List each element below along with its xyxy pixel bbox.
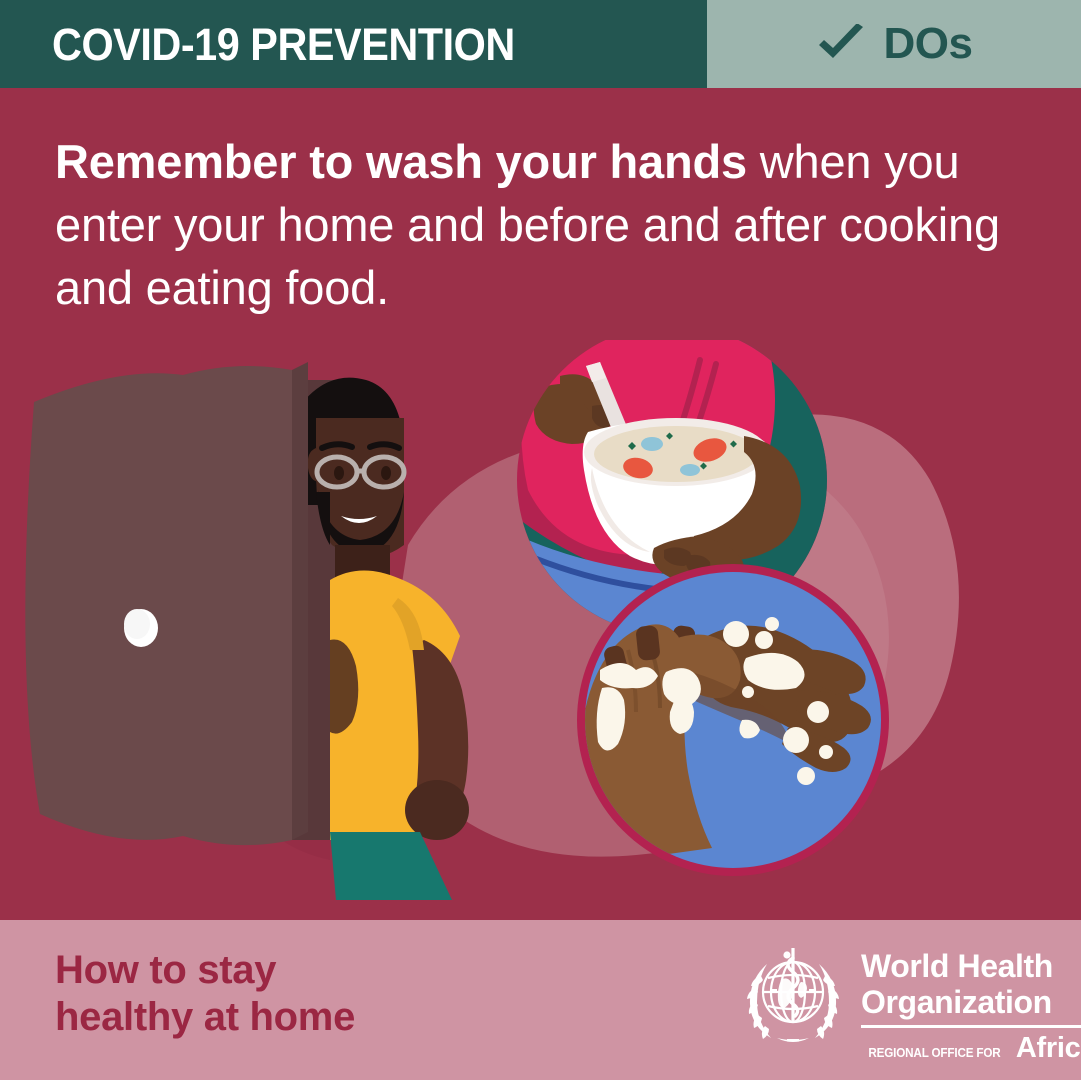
who-region-prefix: REGIONAL OFFICE FOR bbox=[868, 1045, 1000, 1060]
page-title: COVID-19 PREVENTION bbox=[52, 22, 515, 67]
illustration-artwork bbox=[0, 340, 1081, 920]
who-wordmark: World Health Organization REGIONAL OFFIC… bbox=[861, 942, 1081, 1065]
footer-bar: How to stay healthy at home bbox=[0, 920, 1081, 1080]
dos-badge-label: DOs bbox=[884, 22, 973, 66]
poster-canvas: COVID-19 PREVENTION DOs Remember to wash… bbox=[0, 0, 1081, 1080]
who-name-line1: World Health bbox=[861, 948, 1081, 984]
who-region-row: REGIONAL OFFICE FOR Africa bbox=[861, 1032, 1081, 1065]
headline-text: Remember to wash your hands when you ent… bbox=[55, 130, 1035, 319]
who-name-line2: Organization bbox=[861, 984, 1081, 1020]
who-logo: World Health Organization REGIONAL OFFIC… bbox=[737, 942, 1081, 1065]
who-divider bbox=[861, 1025, 1081, 1028]
who-region-name: Africa bbox=[1016, 1032, 1081, 1065]
check-icon bbox=[816, 24, 866, 64]
header-title-band: COVID-19 PREVENTION bbox=[0, 0, 707, 88]
footer-tagline: How to stay healthy at home bbox=[55, 947, 355, 1041]
handwashing-scene bbox=[577, 564, 889, 876]
dos-badge: DOs bbox=[707, 0, 1081, 88]
who-emblem-wrap bbox=[737, 942, 849, 1054]
who-emblem-icon bbox=[737, 942, 849, 1054]
header-bar: COVID-19 PREVENTION DOs bbox=[0, 0, 1081, 88]
headline-bold: Remember to wash your hands bbox=[55, 135, 747, 188]
door-entry-scene bbox=[25, 362, 469, 900]
